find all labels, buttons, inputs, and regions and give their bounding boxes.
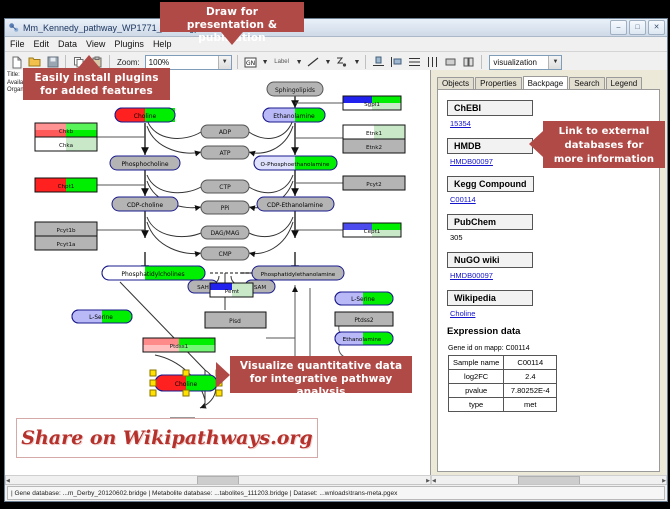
svg-text:L-Serine: L-Serine: [351, 297, 375, 303]
zoom-value: 100%: [149, 58, 169, 67]
svg-text:Pemt: Pemt: [225, 289, 240, 295]
gene-box-pisd[interactable]: Pisd: [205, 312, 266, 328]
toolbar-separator-4: [365, 55, 366, 69]
svg-text:Pcyt1b: Pcyt1b: [56, 228, 76, 234]
node-sphingolipids[interactable]: Sphingolipids: [267, 82, 323, 96]
menu-help[interactable]: Help: [153, 39, 172, 49]
section-heading-nugo-wiki: NuGO wiki: [447, 252, 533, 268]
zoom-label: Zoom:: [117, 58, 140, 67]
scroll-right-icon-2[interactable]: ▶: [662, 478, 666, 484]
node-cdp-choline[interactable]: CDP-choline: [112, 197, 178, 211]
tab-objects[interactable]: Objects: [437, 77, 474, 89]
svg-text:GN: GN: [246, 60, 255, 67]
minimize-button[interactable]: –: [610, 20, 627, 35]
svg-text:DAG/MAG: DAG/MAG: [210, 230, 239, 237]
svg-text:CDP-choline: CDP-choline: [127, 202, 163, 209]
section-heading-chebi: ChEBI: [447, 100, 533, 116]
svg-text:Ptdss2: Ptdss2: [354, 318, 373, 324]
pathvisio-icon: [8, 22, 19, 33]
cell-value-pvalue: 7.80252E-4: [504, 384, 557, 398]
menu-bar: File Edit Data View Plugins Help: [5, 37, 667, 52]
svg-text:Chka: Chka: [59, 143, 73, 149]
svg-text:Ptdss1: Ptdss1: [170, 344, 189, 350]
expression-table: Sample name C00114 log2FC 2.4 pvalue 7.8…: [448, 355, 557, 412]
label-text: Label: [274, 59, 289, 65]
status-bar: | Gene database: ...m_Derby_20120602.bri…: [5, 484, 667, 501]
chevron-down-icon-datanode[interactable]: ▼: [262, 59, 269, 66]
table-row: pvalue 7.80252E-4: [449, 384, 557, 398]
pubchem-value: 305: [450, 233, 659, 242]
gene-id-on-mapp: Gene id on mapp: C00114: [448, 345, 659, 352]
toolbar-separator-3: [237, 55, 238, 69]
section-heading-kegg-compound: Kegg Compound: [447, 176, 534, 192]
tab-properties[interactable]: Properties: [475, 77, 521, 89]
callout-link-arrow-icon: [529, 131, 543, 157]
cell-label-type: type: [449, 398, 504, 412]
align-top-icon[interactable]: [371, 55, 386, 70]
node-l-serine-right[interactable]: L-Serine: [335, 292, 393, 305]
svg-text:SAH: SAH: [197, 285, 209, 291]
callout-link: Link to external databases for more info…: [543, 121, 665, 168]
node-choline-selected[interactable]: Choline: [150, 370, 222, 396]
tab-backpage[interactable]: Backpage: [523, 76, 569, 89]
table-row: Sample name C00114: [449, 356, 557, 370]
svg-text:ADP: ADP: [219, 129, 232, 136]
visualization-value: visualization: [493, 58, 537, 67]
svg-text:Ethanolamine: Ethanolamine: [343, 337, 382, 343]
svg-text:Ethanolamine: Ethanolamine: [273, 113, 315, 120]
data-node-icon[interactable]: GN: [243, 55, 258, 70]
visualization-combobox[interactable]: visualization ▼: [489, 55, 562, 70]
window-controls[interactable]: – □ ✕: [610, 20, 665, 35]
svg-text:Chpt1: Chpt1: [58, 184, 75, 190]
node-choline[interactable]: Choline: [115, 108, 175, 122]
gene-box-etnk1-etnk2[interactable]: Etnk1 Etnk2: [343, 125, 405, 153]
gene-box-chkb-chka[interactable]: Chkb Chka: [35, 123, 97, 151]
distribute-vertical-icon[interactable]: [407, 55, 422, 70]
svg-text:Choline: Choline: [175, 381, 198, 388]
cell-value-sample-name: C00114: [504, 356, 557, 370]
gene-box-ptdss2[interactable]: Ptdss2: [335, 312, 393, 326]
gene-box-chpt1[interactable]: Chpt1: [35, 178, 97, 192]
svg-text:Choline: Choline: [134, 113, 157, 120]
svg-text:O-Phosphoethanolamine: O-Phosphoethanolamine: [261, 162, 330, 168]
node-ethanolamine-bottom[interactable]: Ethanolamine: [335, 332, 393, 345]
svg-text:Pcyt1a: Pcyt1a: [57, 242, 76, 248]
svg-text:SAM: SAM: [254, 285, 266, 291]
chevron-down-icon-line[interactable]: ▼: [325, 59, 332, 66]
title-bar: Mm_Kennedy_pathway_WP1771_45176.gpml – □…: [5, 19, 667, 37]
node-phosphatidylethanolamine[interactable]: Phosphatidylethanolamine: [252, 266, 344, 280]
stack-icon[interactable]: [461, 55, 476, 70]
share-banner: Share on Wikipathways.org: [16, 418, 318, 458]
cell-label-sample-name: Sample name: [449, 356, 504, 370]
gene-box-pcyt1b-pcyt1a[interactable]: Pcyt1b Pcyt1a: [35, 222, 97, 250]
node-l-serine-left[interactable]: L-Serine: [72, 310, 132, 323]
node-adp[interactable]: ADP: [201, 125, 249, 138]
screenshot-root: Mm_Kennedy_pathway_WP1771_45176.gpml – □…: [0, 0, 670, 509]
status-text: | Gene database: ...m_Derby_20120602.bri…: [7, 486, 665, 500]
svg-text:ATP: ATP: [220, 150, 231, 157]
kegg-link[interactable]: C00114: [450, 195, 659, 204]
callout-visualize: Visualize quantitative data for integrat…: [230, 356, 412, 393]
nugo-link[interactable]: HMDB00097: [450, 271, 659, 280]
new-file-icon[interactable]: [9, 55, 24, 70]
gene-box-pcyt2[interactable]: Pcyt2: [343, 176, 405, 190]
node-atp[interactable]: ATP: [201, 146, 249, 159]
tab-search[interactable]: Search: [569, 77, 604, 89]
scrollbar-row: ◀ ▶ ◀ ▶: [5, 475, 667, 484]
callout-plugins: Easily install plugins for added feature…: [23, 68, 170, 100]
anchor-icon[interactable]: [334, 55, 349, 70]
svg-text:Phosphocholine: Phosphocholine: [121, 161, 168, 168]
node-cmp[interactable]: CMP: [201, 247, 249, 260]
chevron-down-icon-label[interactable]: ▼: [296, 59, 303, 66]
table-row: type met: [449, 398, 557, 412]
distribute-horizontal-icon[interactable]: [425, 55, 440, 70]
scroll-left-icon[interactable]: ◀: [6, 478, 10, 484]
section-heading-pubchem: PubChem: [447, 214, 533, 230]
align-left-icon[interactable]: [389, 55, 404, 70]
toolbar-separator-5: [481, 55, 482, 69]
callout-draw-arrow-icon: [221, 32, 243, 45]
section-heading-wikipedia: Wikipedia: [447, 290, 533, 306]
gene-box-ptdss1[interactable]: Ptdss1: [143, 338, 215, 352]
node-dag-mag[interactable]: DAG/MAG: [201, 226, 249, 239]
node-o-phosphoethanolamine[interactable]: O-Phosphoethanolamine: [254, 156, 337, 170]
gene-box-sgpl1[interactable]: Sgpl1: [343, 96, 401, 110]
callout-draw: Draw for presentation & publication: [160, 2, 304, 32]
svg-text:Cept1: Cept1: [364, 229, 381, 235]
node-phosphatidylcholines[interactable]: Phosphatidylcholines: [102, 266, 205, 280]
svg-text:Sgpl1: Sgpl1: [364, 102, 380, 108]
svg-text:PPi: PPi: [221, 205, 230, 212]
svg-text:Chkb: Chkb: [59, 129, 74, 135]
cell-label-pvalue: pvalue: [449, 384, 504, 398]
gene-box-pemt[interactable]: Pemt: [210, 283, 253, 297]
share-banner-text: Share on Wikipathways.org: [21, 427, 312, 449]
node-ppi[interactable]: PPi: [201, 201, 249, 214]
chevron-down-icon-anchor[interactable]: ▼: [353, 59, 360, 66]
scroll-right-icon[interactable]: ▶: [426, 478, 430, 484]
node-ethanolamine[interactable]: Ethanolamine: [263, 108, 325, 122]
svg-text:CMP: CMP: [219, 251, 232, 258]
svg-text:Sphingolipids: Sphingolipids: [275, 87, 315, 94]
callout-plugins-arrow-icon: [78, 55, 100, 68]
wikipedia-link[interactable]: Choline: [450, 309, 659, 318]
menu-view[interactable]: View: [86, 39, 105, 49]
table-row: log2FC 2.4: [449, 370, 557, 384]
svg-text:CTP: CTP: [219, 184, 231, 191]
menu-data[interactable]: Data: [58, 39, 77, 49]
maximize-button[interactable]: □: [629, 20, 646, 35]
scroll-left-icon-2[interactable]: ◀: [432, 478, 436, 484]
cell-value-type: met: [504, 398, 557, 412]
chevron-down-icon[interactable]: ▼: [218, 56, 231, 69]
expression-data-heading: Expression data: [447, 326, 659, 337]
chevron-down-icon-visualization[interactable]: ▼: [548, 56, 561, 69]
node-ctp[interactable]: CTP: [201, 180, 249, 193]
cell-value-log2fc: 2.4: [504, 370, 557, 384]
svg-text:Phosphatidylethanolamine: Phosphatidylethanolamine: [261, 272, 336, 278]
tab-legend[interactable]: Legend: [606, 77, 643, 89]
line-icon[interactable]: [306, 55, 321, 70]
group-icon[interactable]: [443, 55, 458, 70]
label-icon[interactable]: Label: [272, 55, 292, 70]
section-heading-hmdb: HMDB: [447, 138, 533, 154]
toolbar-separator: [65, 55, 66, 69]
cell-label-log2fc: log2FC: [449, 370, 504, 384]
side-panel-tabs: Objects Properties Backpage Search Legen…: [437, 75, 667, 89]
menu-file[interactable]: File: [10, 39, 25, 49]
svg-text:Pisd: Pisd: [229, 319, 241, 325]
svg-text:Etnk1: Etnk1: [366, 131, 383, 137]
svg-text:Phosphatidylcholines: Phosphatidylcholines: [121, 271, 184, 278]
gene-box-cept1[interactable]: Cept1: [343, 223, 401, 237]
node-phosphocholine[interactable]: Phosphocholine: [110, 156, 180, 170]
svg-text:L-Serine: L-Serine: [89, 315, 113, 321]
node-cdp-ethanolamine[interactable]: CDP-Ethanolamine: [257, 197, 334, 211]
menu-plugins[interactable]: Plugins: [114, 39, 144, 49]
svg-text:Etnk2: Etnk2: [366, 145, 382, 151]
svg-text:CDP-Ethanolamine: CDP-Ethanolamine: [267, 202, 323, 209]
close-button[interactable]: ✕: [648, 20, 665, 35]
svg-text:Pcyt2: Pcyt2: [366, 182, 382, 188]
menu-edit[interactable]: Edit: [34, 39, 50, 49]
toolbar-separator-2: [109, 55, 110, 69]
callout-visualize-arrow-icon: [216, 362, 230, 388]
